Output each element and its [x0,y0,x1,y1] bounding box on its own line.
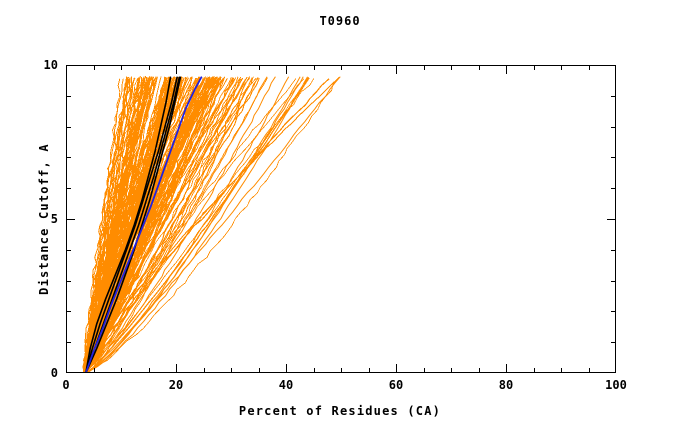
x-tick-label: 100 [596,378,636,392]
x-tick-label: 40 [266,378,306,392]
plot-canvas [66,65,616,373]
x-tick-label: 0 [46,378,86,392]
plot-area [66,65,616,373]
chart-title: T0960 [0,14,680,28]
y-tick-label: 0 [30,366,58,380]
x-tick-label: 60 [376,378,416,392]
x-axis-label: Percent of Residues (CA) [0,404,680,418]
x-tick-label: 80 [486,378,526,392]
x-tick-label: 20 [156,378,196,392]
series-predictor-models [83,77,340,373]
y-tick-label: 10 [30,58,58,72]
y-tick-label: 5 [30,212,58,226]
chart-root: T0960 Distance Cutoff, A Percent of Resi… [0,0,680,440]
